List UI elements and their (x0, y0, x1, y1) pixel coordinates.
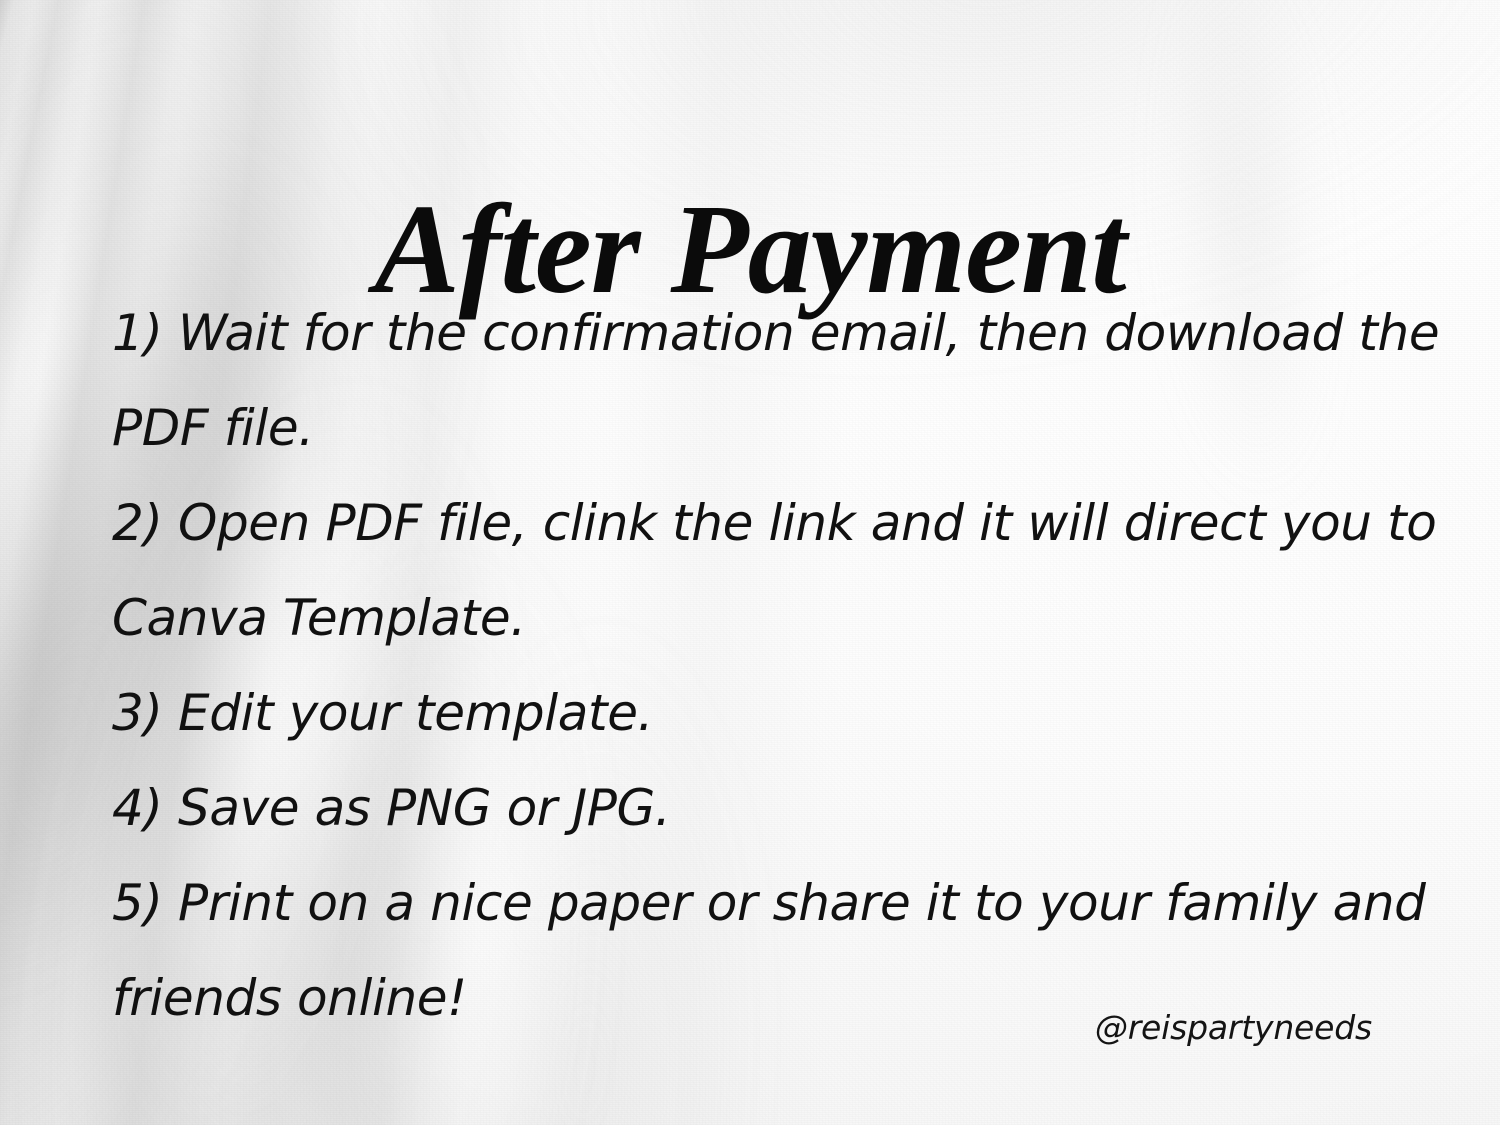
instruction-line: Canva Template. (112, 571, 1442, 666)
instruction-line: 5) Print on a nice paper or share it to … (112, 856, 1442, 951)
instruction-line: 3) Edit your template. (112, 666, 1442, 761)
shop-handle-watermark: @reispartyneeds (1095, 1008, 1372, 1047)
slide-canvas: After Payment 1) Wait for the confirmati… (0, 0, 1500, 1125)
instruction-line: 2) Open PDF file, clink the link and it … (112, 476, 1442, 571)
instruction-line: 1) Wait for the confirmation email, then… (112, 286, 1442, 381)
instruction-list: 1) Wait for the confirmation email, then… (112, 286, 1442, 1046)
instruction-line: 4) Save as PNG or JPG. (112, 761, 1442, 856)
instruction-line: PDF file. (112, 381, 1442, 476)
slide-content: After Payment 1) Wait for the confirmati… (0, 0, 1500, 1125)
